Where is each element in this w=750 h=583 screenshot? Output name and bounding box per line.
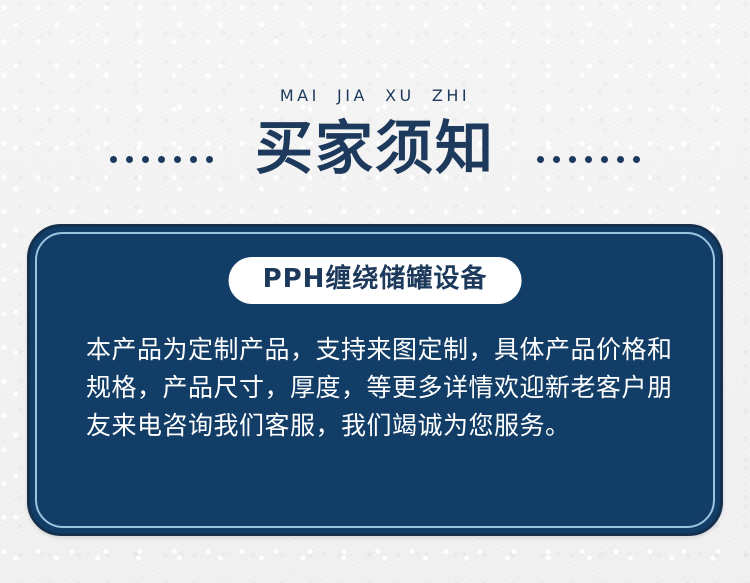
- notice-body-text: 本产品为定制产品，支持来图定制，具体产品价格和 规格，产品尺寸，厚度，等更多详情…: [86, 331, 680, 445]
- product-badge: PPH缠绕储罐设备: [229, 257, 522, 304]
- dot-icon: [142, 156, 149, 163]
- page-title: 买家须知: [255, 119, 495, 177]
- dot-icon: [126, 156, 133, 163]
- dot-icon: [601, 156, 608, 163]
- title-row: 买家须知: [0, 112, 750, 184]
- dot-icon: [110, 156, 117, 163]
- dot-icon: [537, 156, 544, 163]
- dot-icon: [158, 156, 165, 163]
- notice-body-line: 本产品为定制产品，支持来图定制，具体产品价格和: [86, 331, 680, 369]
- dot-icon: [553, 156, 560, 163]
- dot-icon: [633, 156, 640, 163]
- dot-icon: [206, 156, 213, 163]
- dot-icon: [174, 156, 181, 163]
- dot-icon: [569, 156, 576, 163]
- decorative-dots-left: [110, 156, 213, 163]
- notice-card: PPH缠绕储罐设备 本产品为定制产品，支持来图定制，具体产品价格和 规格，产品尺…: [27, 224, 723, 536]
- dot-icon: [190, 156, 197, 163]
- dot-icon: [585, 156, 592, 163]
- pinyin-subtitle: MAI JIA XU ZHI: [0, 86, 750, 105]
- dot-icon: [617, 156, 624, 163]
- notice-body-line: 规格，产品尺寸，厚度，等更多详情欢迎新老客户朋: [86, 369, 680, 407]
- notice-body-line: 友来电咨询我们客服，我们竭诚为您服务。: [86, 407, 680, 445]
- decorative-dots-right: [537, 156, 640, 163]
- page-background: MAI JIA XU ZHI 买家须知 PPH缠绕储罐设备 本产品为定制产品: [0, 0, 750, 583]
